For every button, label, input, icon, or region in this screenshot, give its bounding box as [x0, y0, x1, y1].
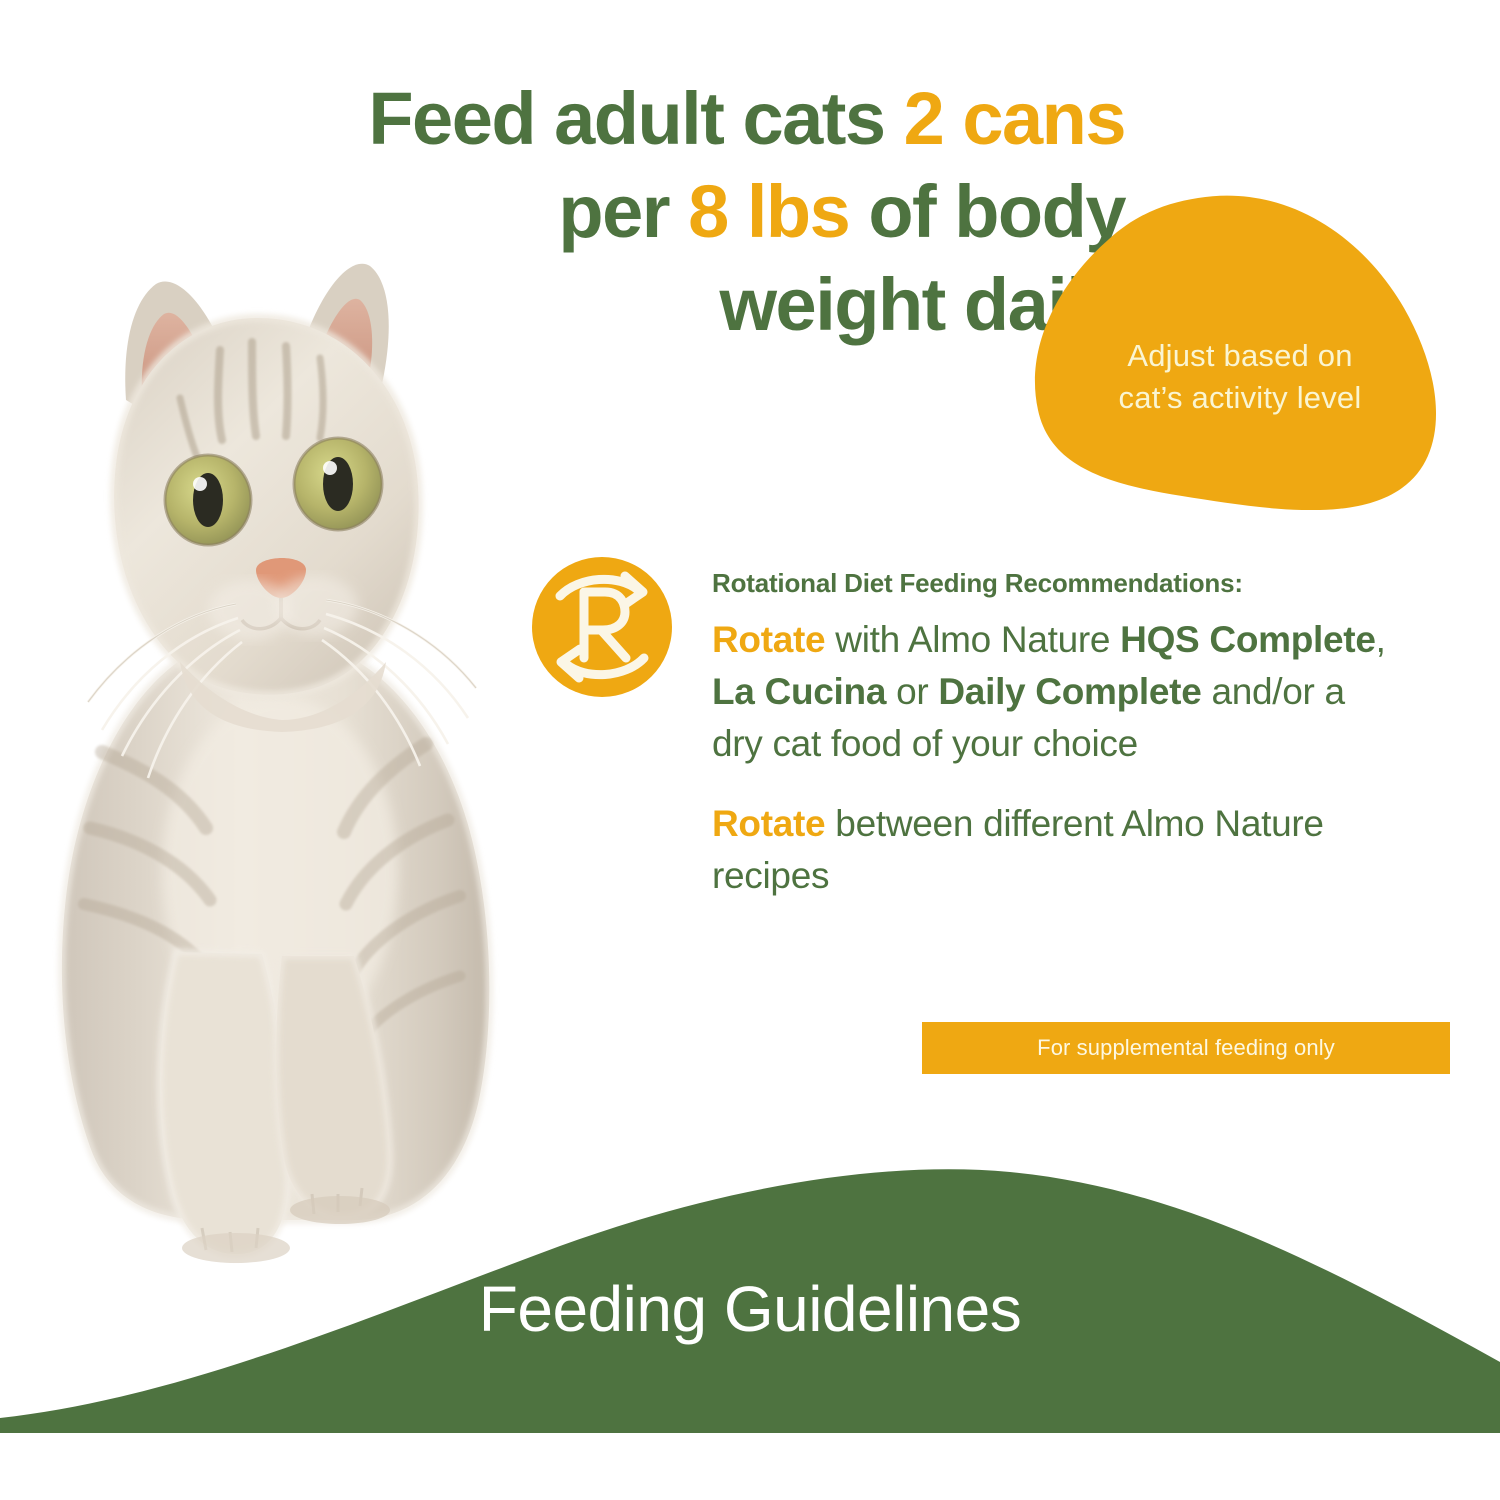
rotate-r-icon: [527, 552, 677, 702]
activity-callout-text: Adjust based on cat’s activity level: [1055, 335, 1425, 419]
headline-highlight-cans: 2 cans: [904, 77, 1125, 160]
infographic-canvas: Feed adult cats 2 cans per 8 lbs of body…: [0, 0, 1500, 1500]
supplemental-feeding-label: For supplemental feeding only: [922, 1022, 1450, 1074]
headline-line-1-text: Feed adult cats: [368, 77, 903, 160]
footer-title: Feeding Guidelines: [0, 1272, 1500, 1346]
rotational-p1-d: ,: [1376, 619, 1386, 660]
rotational-paragraph-2: Rotate between different Almo Nature rec…: [712, 798, 1402, 902]
rotational-p1-b: with Almo Nature: [825, 619, 1120, 660]
activity-callout-line-1: Adjust based on: [1055, 335, 1425, 377]
headline-line-3: weight daily: [150, 258, 1125, 351]
product-la-cucina: La Cucina: [712, 671, 886, 712]
rotational-heading: Rotational Diet Feeding Recommendations:: [712, 568, 1402, 598]
activity-callout-line-2: cat’s activity level: [1055, 377, 1425, 419]
rotational-paragraph-1: Rotate with Almo Nature HQS Complete, La…: [712, 614, 1402, 770]
headline-line-1: Feed adult cats 2 cans: [150, 72, 1125, 165]
headline-highlight-lbs: 8 lbs: [688, 170, 849, 253]
headline-line-2: per 8 lbs of body: [150, 165, 1125, 258]
rotate-keyword-1: Rotate: [712, 619, 825, 660]
cat-photo: [30, 232, 520, 1267]
page-title: Feed adult cats 2 cans per 8 lbs of body…: [150, 72, 1125, 351]
product-daily-complete: Daily Complete: [938, 671, 1201, 712]
rotate-keyword-2: Rotate: [712, 803, 825, 844]
product-hqs-complete: HQS Complete: [1120, 619, 1375, 660]
rotational-p1-f: or: [886, 671, 938, 712]
headline-line-2-text-a: per: [558, 170, 688, 253]
rotational-diet-block: Rotational Diet Feeding Recommendations:…: [712, 568, 1402, 902]
